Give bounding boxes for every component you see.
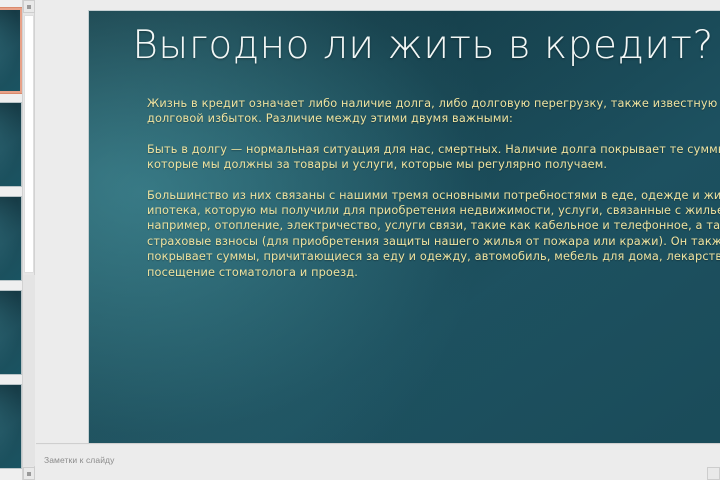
- slide-canvas[interactable]: Выгодно ли жить в кредит? Жизнь в кредит…: [88, 10, 720, 443]
- scroll-down-arrow-icon[interactable]: [23, 467, 35, 480]
- slide-paragraph-1: Жизнь в кредит означает либо наличие дол…: [147, 96, 720, 127]
- notes-pane-splitter[interactable]: [36, 443, 720, 445]
- slide-thumbnail-preview: [0, 385, 21, 468]
- resize-corner-handle[interactable]: [707, 467, 720, 480]
- slide-editor-workspace: Выгодно ли жить в кредит? Жизнь в кредит…: [36, 0, 720, 480]
- slide-thumbnail-2[interactable]: [0, 102, 22, 187]
- slide-thumbnail-1[interactable]: [0, 8, 22, 93]
- slide-thumbnail-preview: [0, 291, 21, 374]
- scrollbar-track[interactable]: [23, 275, 35, 466]
- slide-paragraph-2: Быть в долгу — нормальная ситуация для н…: [147, 142, 720, 173]
- slide-body-textbox[interactable]: Жизнь в кредит означает либо наличие дол…: [147, 96, 720, 280]
- scrollbar-thumb[interactable]: [24, 15, 34, 273]
- slide-paragraph-3: Большинство из них связаны с нашими трем…: [147, 188, 720, 280]
- notes-pane[interactable]: Заметки к слайду: [36, 446, 720, 480]
- notes-placeholder: Заметки к слайду: [44, 455, 114, 465]
- scroll-up-arrow-icon[interactable]: [23, 0, 35, 13]
- slide-thumbnail-5[interactable]: [0, 384, 22, 469]
- slide-thumbnail-preview: [0, 103, 21, 186]
- slide-thumbnail-4[interactable]: [0, 290, 22, 375]
- slide-title[interactable]: Выгодно ли жить в кредит?: [89, 25, 720, 68]
- presentation-editor-window: Выгодно ли жить в кредит? Жизнь в кредит…: [0, 0, 720, 480]
- slide-thumbnail-3[interactable]: [0, 196, 22, 281]
- slide-thumbnail-preview: [0, 197, 21, 280]
- slide-thumbnail-panel[interactable]: [0, 0, 22, 480]
- thumbnail-scrollbar[interactable]: [22, 0, 35, 480]
- slide-thumbnail-preview: [0, 10, 20, 91]
